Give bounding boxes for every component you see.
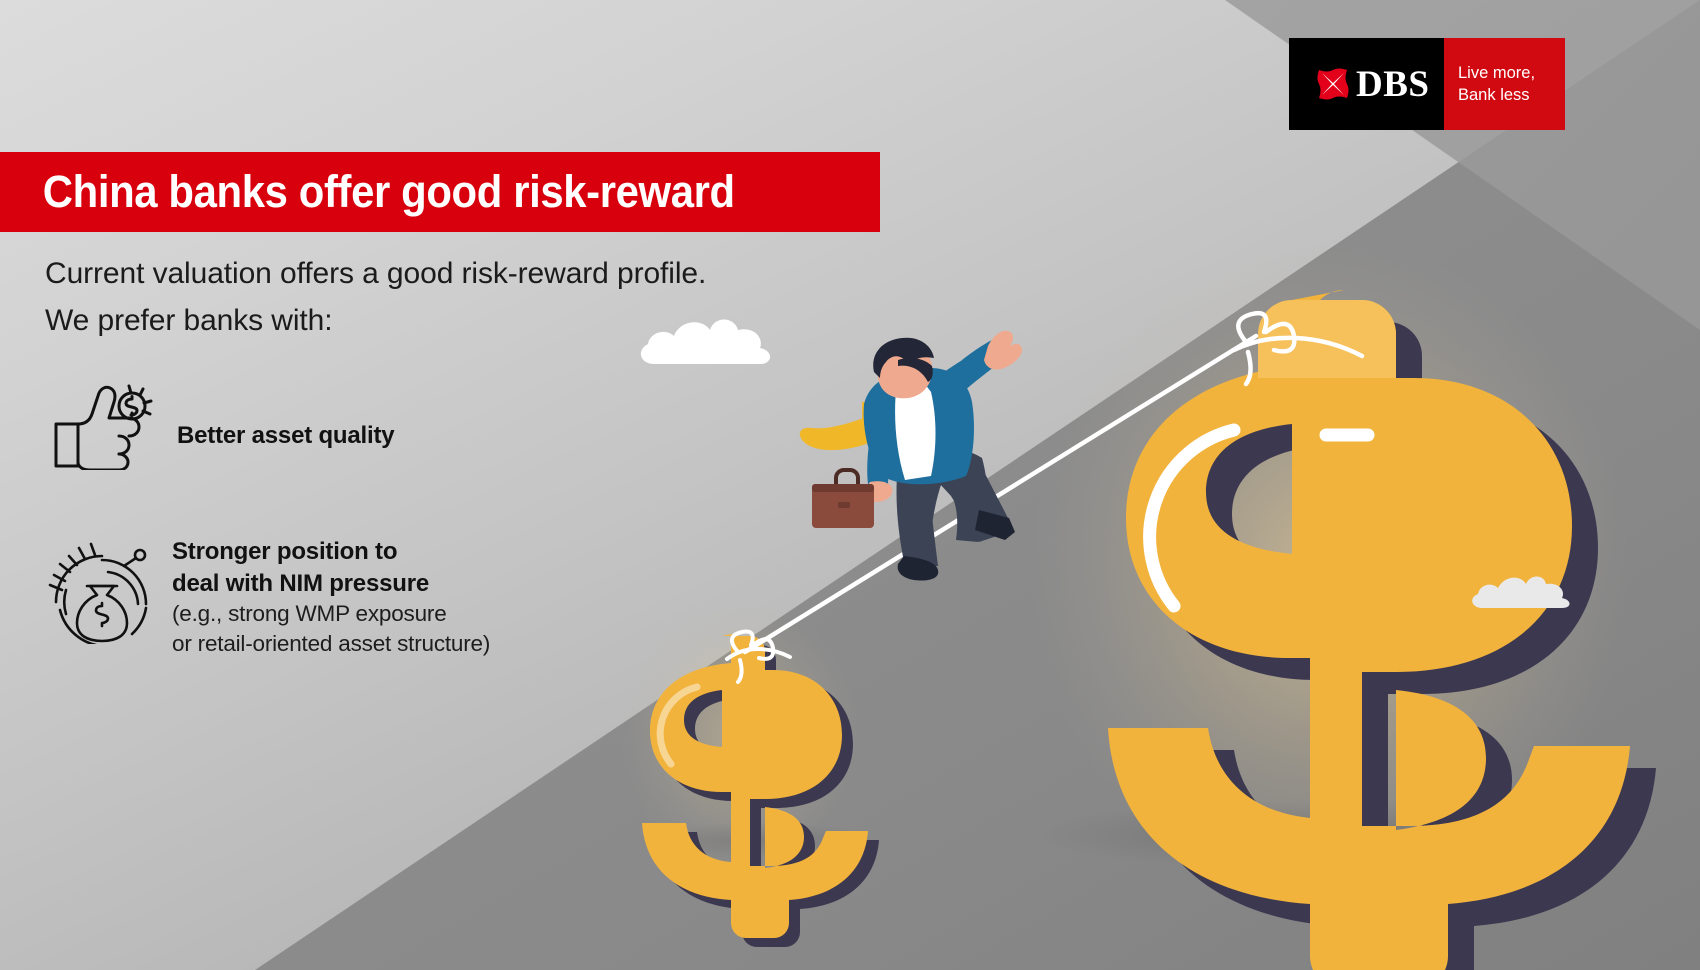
large-dollar-ground-shadow: [1040, 800, 1600, 870]
money-bag-gauge-icon: [46, 528, 158, 649]
dbs-logo[interactable]: DBS Live more, Bank less: [1289, 38, 1565, 130]
bullet-2-label-line2: deal with NIM pressure: [172, 568, 490, 600]
small-dollar-ground-shadow: [640, 822, 870, 858]
logo-tagline-line2: Bank less: [1458, 84, 1565, 106]
logo-black-panel: DBS: [1289, 38, 1444, 130]
logo-tagline-line1: Live more,: [1458, 62, 1565, 84]
bullet-2-label-line1: Stronger position to: [172, 536, 490, 568]
logo-tagline-panel: Live more, Bank less: [1444, 38, 1565, 130]
bullet-2-text: Stronger position to deal with NIM press…: [172, 536, 490, 659]
thumbs-up-coin-icon: [48, 378, 156, 475]
intro-line-2: We prefer banks with:: [45, 297, 865, 344]
bullet-better-asset-quality: Better asset quality: [48, 378, 394, 475]
cloud-right: [1470, 570, 1580, 612]
bullet-nim-pressure: Stronger position to deal with NIM press…: [46, 528, 490, 659]
dbs-diamond-icon: [1315, 66, 1351, 102]
intro-line-1: Current valuation offers a good risk-rew…: [45, 250, 865, 297]
bullet-2-detail-line1: (e.g., strong WMP exposure: [172, 599, 490, 629]
intro-copy: Current valuation offers a good risk-rew…: [45, 250, 865, 345]
page-title: China banks offer good risk-reward: [0, 166, 735, 218]
headline-band: China banks offer good risk-reward: [0, 152, 880, 232]
infographic-canvas: DBS Live more, Bank less China banks off…: [0, 0, 1700, 970]
logo-wordmark: DBS: [1356, 66, 1429, 103]
bullet-1-label: Better asset quality: [177, 420, 394, 452]
bullet-2-detail-line2: or retail-oriented asset structure): [172, 629, 490, 659]
bullet-1-text: Better asset quality: [177, 420, 394, 452]
